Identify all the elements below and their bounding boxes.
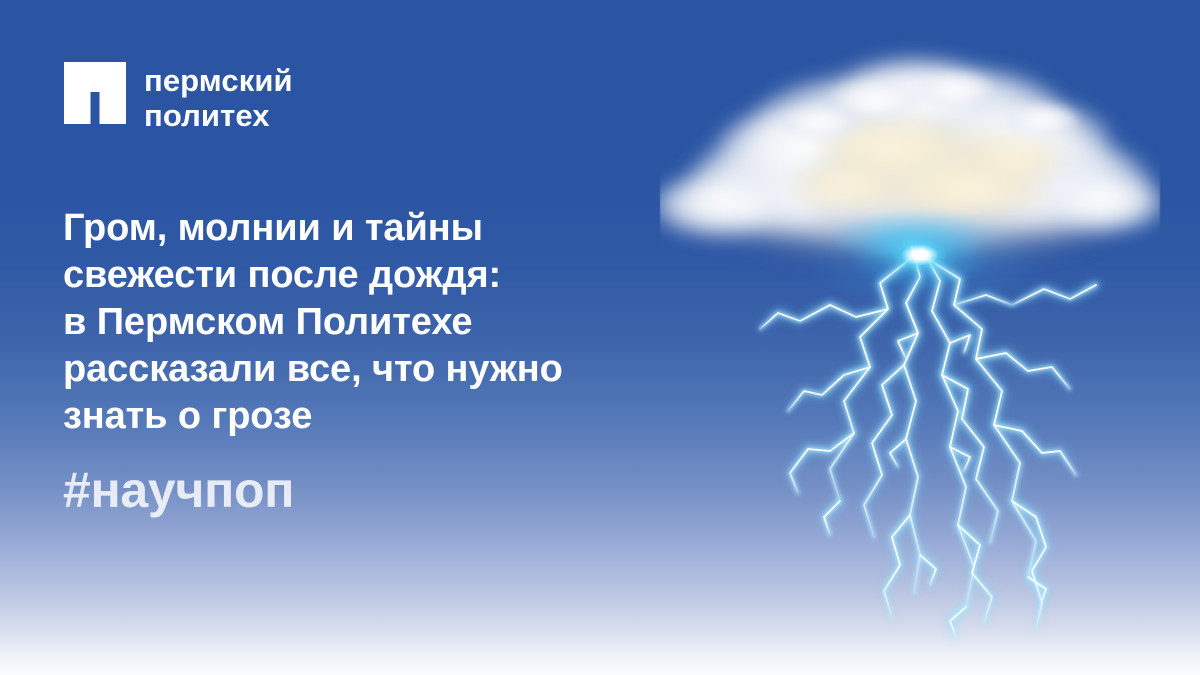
perm-polytech-logo[interactable]: пермский политех bbox=[64, 62, 293, 133]
headline-line-1: Гром, молнии и тайны bbox=[63, 205, 743, 252]
logo-line-2: политех bbox=[144, 98, 293, 133]
headline-line-5: знать о грозе bbox=[63, 393, 743, 440]
perm-polytech-square-mark-icon bbox=[64, 62, 126, 124]
headline: Гром, молнии и тайны свежести после дожд… bbox=[63, 205, 743, 440]
headline-line-4: рассказали все, что нужно bbox=[63, 346, 743, 393]
headline-line-3: в Пермском Политехе bbox=[63, 299, 743, 346]
headline-line-2: свежести после дождя: bbox=[63, 252, 743, 299]
logo-notch bbox=[91, 92, 100, 124]
lightning-bolt-illustration bbox=[760, 225, 1160, 655]
logo-line-1: пермский bbox=[144, 63, 293, 98]
logo-wordmark: пермский политех bbox=[144, 62, 293, 133]
promo-banner: пермский политех Гром, молнии и тайны св… bbox=[0, 0, 1200, 675]
hashtag-label[interactable]: #научпоп bbox=[63, 462, 294, 518]
